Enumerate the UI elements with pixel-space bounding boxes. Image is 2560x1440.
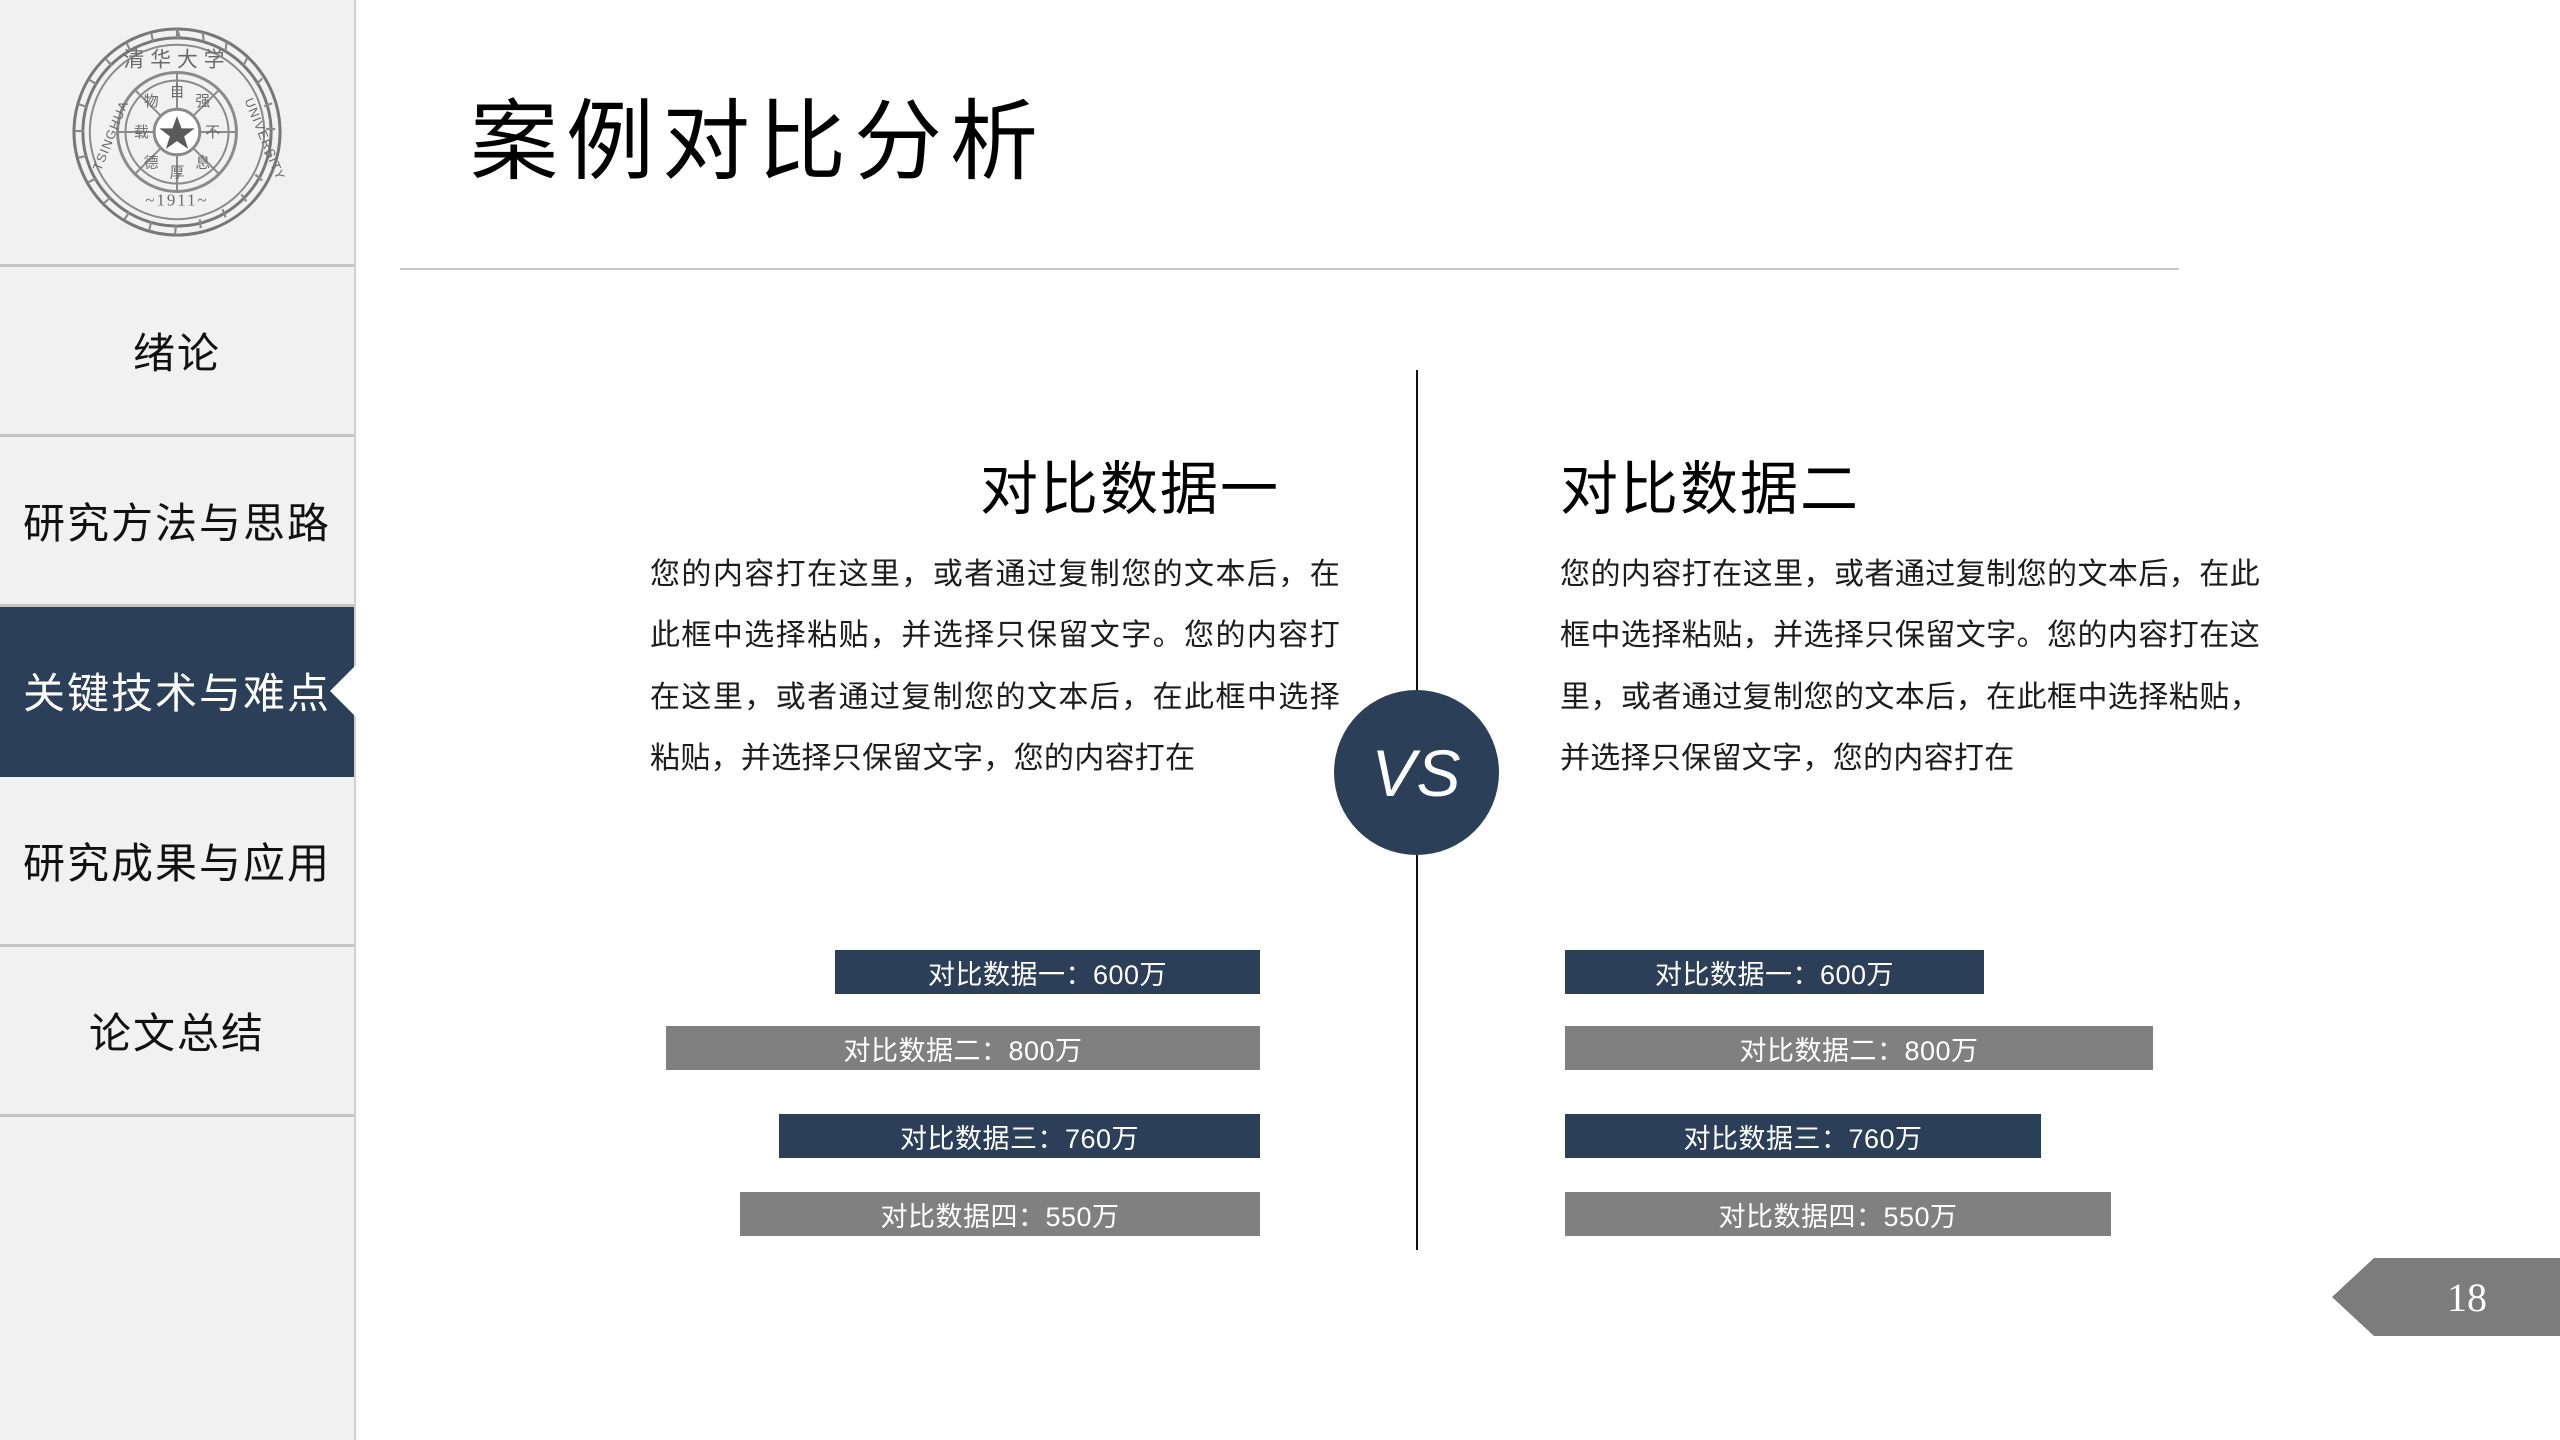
sidebar: 清华大学 ~1911~ TSINGHUA UNIVERSITY 自 强 不 息 …	[0, 0, 356, 1440]
bar-row[interactable]: 对比数据四：550万	[740, 1192, 1260, 1236]
sidebar-item-label: 论文总结	[89, 1000, 265, 1061]
svg-text:强: 强	[195, 94, 210, 110]
svg-text:载: 载	[134, 124, 149, 141]
vs-badge: VS	[1334, 690, 1499, 855]
svg-text:自: 自	[170, 83, 185, 100]
page-number-badge: 18	[2332, 1258, 2560, 1336]
page-title: 案例对比分析	[470, 98, 1046, 186]
bar-row[interactable]: 对比数据三：760万	[1565, 1114, 2041, 1158]
bar-row[interactable]: 对比数据二：800万	[666, 1026, 1260, 1070]
bar-chart-left: 对比数据一：600万 对比数据二：800万 对比数据三：760万 对比数据四：5…	[640, 950, 1260, 1250]
bar-row[interactable]: 对比数据二：800万	[1565, 1026, 2153, 1070]
bar-label: 对比数据二：800万	[843, 1029, 1082, 1068]
sidebar-empty-area	[0, 1117, 354, 1327]
bar-label: 对比数据四：550万	[1718, 1195, 1957, 1234]
bar-label: 对比数据二：800万	[1739, 1029, 1978, 1068]
sidebar-item-label: 研究成果与应用	[23, 830, 331, 891]
bar-row[interactable]: 对比数据一：600万	[835, 950, 1260, 994]
column-body-left: 您的内容打在这里，或者通过复制您的文本后，在此框中选择粘贴，并选择只保留文字。您…	[650, 544, 1340, 790]
svg-text:物: 物	[144, 93, 159, 110]
sidebar-item-key-tech[interactable]: 关键技术与难点	[0, 607, 354, 777]
vs-label: VS	[1371, 740, 1461, 806]
sidebar-item-label: 研究方法与思路	[23, 490, 331, 551]
svg-text:~1911~: ~1911~	[145, 190, 208, 209]
svg-text:不: 不	[205, 125, 220, 141]
sidebar-item-results[interactable]: 研究成果与应用	[0, 777, 354, 947]
slide-canvas: 清华大学 ~1911~ TSINGHUA UNIVERSITY 自 强 不 息 …	[0, 0, 2560, 1440]
chevron-left-icon	[330, 665, 356, 717]
svg-text:德: 德	[144, 154, 159, 172]
sidebar-nav: 绪论 研究方法与思路 关键技术与难点 研究成果与应用 论文总结	[0, 267, 354, 1327]
bar-label: 对比数据一：600万	[1655, 953, 1894, 992]
bar-label: 对比数据三：760万	[900, 1117, 1139, 1156]
sidebar-item-conclusion[interactable]: 论文总结	[0, 947, 354, 1117]
svg-text:清华大学: 清华大学	[124, 49, 231, 72]
column-heading-left: 对比数据一	[640, 458, 1340, 522]
bar-label: 对比数据三：760万	[1683, 1117, 1922, 1156]
comparison-column-right: 对比数据二 您的内容打在这里，或者通过复制您的文本后，在此框中选择粘贴，并选择只…	[1560, 458, 2260, 790]
tsinghua-seal-icon: 清华大学 ~1911~ TSINGHUA UNIVERSITY 自 强 不 息 …	[68, 23, 286, 241]
column-heading-right: 对比数据二	[1560, 458, 2260, 522]
svg-text:厚: 厚	[170, 166, 185, 182]
page-number: 18	[2447, 1274, 2487, 1321]
comparison-column-left: 对比数据一 您的内容打在这里，或者通过复制您的文本后，在此框中选择粘贴，并选择只…	[640, 458, 1340, 790]
bar-row[interactable]: 对比数据三：760万	[779, 1114, 1260, 1158]
column-body-right: 您的内容打在这里，或者通过复制您的文本后，在此框中选择粘贴，并选择只保留文字。您…	[1560, 544, 2260, 790]
sidebar-item-label: 绪论	[133, 320, 221, 381]
bar-row[interactable]: 对比数据四：550万	[1565, 1192, 2111, 1236]
sidebar-item-xulun[interactable]: 绪论	[0, 267, 354, 437]
svg-text:息: 息	[195, 155, 210, 172]
bar-row[interactable]: 对比数据一：600万	[1565, 950, 1984, 994]
sidebar-item-label: 关键技术与难点	[23, 660, 331, 721]
university-logo: 清华大学 ~1911~ TSINGHUA UNIVERSITY 自 强 不 息 …	[0, 0, 354, 267]
header-divider	[400, 268, 2179, 270]
sidebar-item-research-method[interactable]: 研究方法与思路	[0, 437, 354, 607]
bar-label: 对比数据一：600万	[928, 953, 1167, 992]
bar-label: 对比数据四：550万	[880, 1195, 1119, 1234]
bar-chart-right: 对比数据一：600万 对比数据二：800万 对比数据三：760万 对比数据四：5…	[1565, 950, 2185, 1250]
